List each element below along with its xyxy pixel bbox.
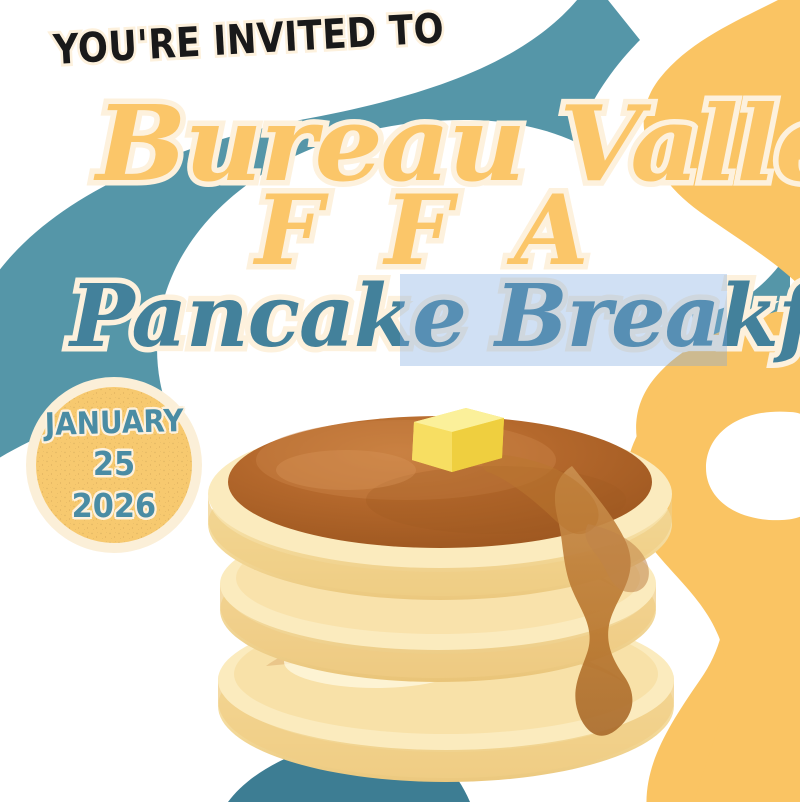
- badge-day: 25: [93, 444, 135, 483]
- badge-month: JANUARY: [44, 403, 184, 443]
- pancake-breakfast-flyer: YOU'RE INVITED TO Bureau Valley F F A Pa…: [0, 0, 800, 802]
- badge-year: 2026: [72, 486, 157, 525]
- pancake-stack-illustration: [208, 408, 674, 782]
- date-badge: JANUARY 25 2026: [26, 376, 202, 554]
